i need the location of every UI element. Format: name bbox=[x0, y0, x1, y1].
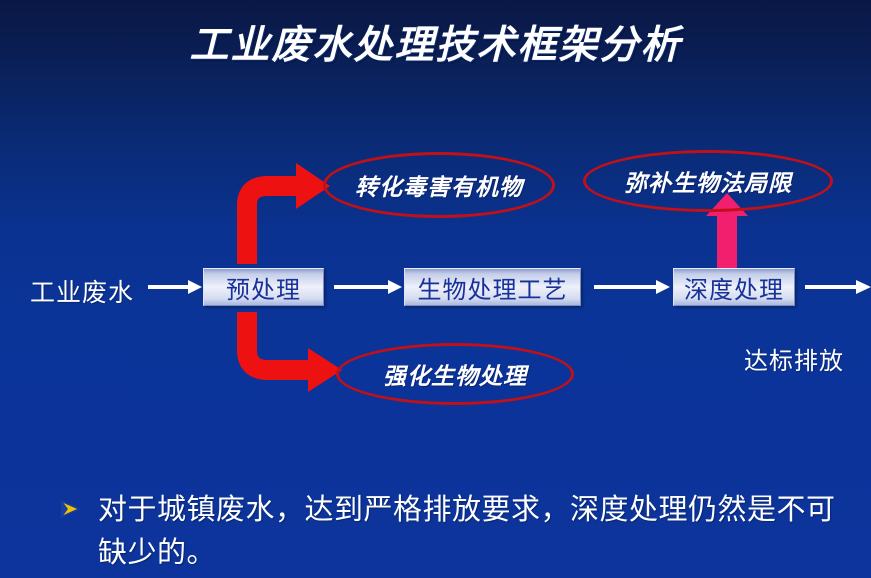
callout-convert-toxic-organics[interactable]: 转化毒害有机物 bbox=[323, 152, 555, 218]
callout-compensate-bio-limits[interactable]: 弥补生物法局限 bbox=[583, 150, 833, 212]
process-box-biological-treatment[interactable]: 生物处理工艺 bbox=[404, 268, 581, 306]
process-box-pretreatment-label: 预处理 bbox=[226, 270, 301, 305]
red-elbow-arrow-up-right-icon bbox=[247, 163, 330, 264]
callout-enhance-label: 强化生物处理 bbox=[383, 357, 527, 391]
flow-arrow-advance-to-effluent bbox=[805, 280, 871, 294]
process-box-advanced-treatment[interactable]: 深度处理 bbox=[673, 268, 795, 306]
callout-convert-label: 转化毒害有机物 bbox=[355, 168, 523, 202]
effluent-label: 达标排放 bbox=[744, 341, 844, 376]
chevron-bullet-icon bbox=[58, 497, 82, 521]
flow-arrow-pre-to-bio bbox=[334, 280, 402, 294]
callout-limit-label: 弥补生物法局限 bbox=[624, 164, 792, 198]
process-box-pretreatment[interactable]: 预处理 bbox=[203, 268, 324, 306]
process-box-biological-treatment-label: 生物处理工艺 bbox=[418, 270, 568, 305]
red-elbow-arrow-down-right-icon bbox=[247, 312, 342, 392]
bullet-text: 对于城镇废水，达到严格排放要求，深度处理仍然是不可缺少的。 bbox=[98, 488, 858, 574]
page-title: 工业废水处理技术框架分析 bbox=[0, 14, 871, 70]
slide-canvas: 工业废水处理技术框架分析 bbox=[0, 0, 871, 578]
influent-label: 工业废水 bbox=[30, 273, 134, 309]
flow-arrow-influent-to-pre bbox=[148, 280, 202, 294]
bullet-item: 对于城镇废水，达到严格排放要求，深度处理仍然是不可缺少的。 bbox=[58, 488, 858, 574]
process-box-advanced-treatment-label: 深度处理 bbox=[684, 270, 784, 305]
flow-arrow-bio-to-advance bbox=[594, 280, 670, 294]
callout-enhance-bio-treatment[interactable]: 强化生物处理 bbox=[336, 343, 574, 405]
